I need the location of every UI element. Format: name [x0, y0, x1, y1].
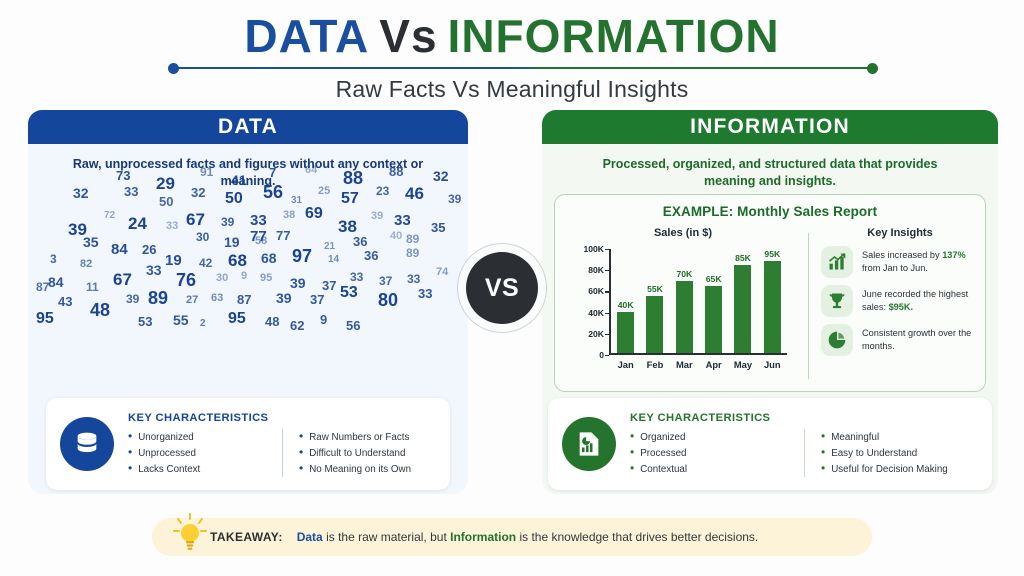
- kc-list-item: •Easy to Understand: [821, 445, 978, 461]
- bullet-icon: •: [299, 461, 303, 476]
- random-number: 50: [159, 194, 173, 209]
- random-number: 68: [228, 251, 247, 271]
- random-number: 95: [228, 310, 246, 328]
- kc-list-item-label: Organized: [640, 430, 685, 445]
- random-number: 62: [290, 318, 304, 333]
- vs-badge: VS: [466, 252, 538, 324]
- kc-body: KEY CHARACTERISTICS •Organized•Processed…: [630, 412, 978, 477]
- divider-dot-right: [867, 63, 878, 74]
- chart-y-tick-label: 60K: [588, 286, 604, 296]
- bullet-icon: •: [821, 461, 825, 476]
- insight-row: June recorded the highest sales: $95K.: [821, 285, 979, 317]
- random-number: 36: [353, 234, 367, 249]
- sales-bar-chart: Sales (in $) 100K80K60K40K20K0 40K55K70K…: [563, 227, 803, 387]
- random-number: 3: [50, 252, 57, 266]
- chart-bar-value-label: 85K: [735, 253, 751, 263]
- random-number: 26: [142, 242, 156, 257]
- growth-chart-icon: [821, 246, 853, 278]
- chart-bars: 40K55K70K65K85K95K: [611, 249, 787, 353]
- random-number: 87: [36, 280, 49, 294]
- bullet-icon: •: [630, 429, 634, 444]
- random-number: 30: [216, 272, 228, 284]
- kc-list-item: •Difficult to Understand: [299, 445, 436, 461]
- kc-list-item-label: Processed: [640, 446, 686, 461]
- database-icon: [60, 417, 114, 471]
- chart-x-tick-label: Mar: [670, 359, 699, 370]
- kc-list-item-label: Unprocessed: [138, 446, 196, 461]
- kc-list-item: •Organized: [630, 429, 804, 445]
- random-number: 82: [80, 258, 92, 270]
- chart-y-tick-label: 20K: [588, 329, 604, 339]
- title-word-vs: Vs: [379, 10, 437, 62]
- key-insights-heading: Key Insights: [821, 227, 979, 239]
- random-number: 56: [346, 318, 360, 333]
- insight-row: Consistent growth over the months.: [821, 324, 979, 356]
- data-panel-header: DATA: [28, 110, 468, 144]
- random-number: 97: [292, 246, 312, 267]
- bullet-icon: •: [128, 445, 132, 460]
- information-key-characteristics: KEY CHARACTERISTICS •Organized•Processed…: [548, 398, 992, 490]
- kc-list-item-label: Easy to Understand: [831, 446, 917, 461]
- kc-body: KEY CHARACTERISTICS •Unorganized•Unproce…: [128, 412, 436, 477]
- bullet-icon: •: [128, 429, 132, 444]
- random-number: 39: [126, 292, 139, 306]
- insight-text: Sales increased by 137% from Jan to Jun.: [862, 249, 979, 274]
- chart-y-tick-label: 100K: [583, 244, 604, 254]
- random-number: 2: [200, 318, 206, 329]
- page-title: DATAVsINFORMATION: [0, 8, 1024, 64]
- random-number: 39: [276, 290, 292, 306]
- chart-bar-column: 65K: [699, 249, 728, 353]
- divider-line: [174, 67, 872, 69]
- random-number: 30: [196, 230, 209, 244]
- information-panel-description: Processed, organized, and structured dat…: [542, 144, 998, 190]
- bullet-icon: •: [821, 429, 825, 444]
- kc-heading: KEY CHARACTERISTICS: [630, 412, 978, 424]
- random-number: 42: [199, 256, 212, 270]
- chart-bar-value-label: 55K: [647, 284, 663, 294]
- takeaway-banner: TAKEAWAY: Data is the raw material, but …: [152, 518, 872, 556]
- random-number: 21: [324, 241, 335, 252]
- random-number: 73: [116, 168, 130, 183]
- random-number: 39: [290, 275, 306, 291]
- chart-y-tick-label: 80K: [588, 265, 604, 275]
- chart-plot-area: 100K80K60K40K20K0 40K55K70K65K85K95K Jan…: [609, 249, 787, 355]
- chart-y-tick-label: 40K: [588, 308, 604, 318]
- random-number: 40: [390, 230, 402, 242]
- random-number: 33: [250, 212, 267, 229]
- kc-column-two: •Raw Numbers or Facts•Difficult to Under…: [282, 429, 436, 477]
- random-number: 53: [138, 314, 152, 329]
- title-divider: [168, 62, 878, 74]
- kc-list-item-label: Contextual: [640, 462, 687, 477]
- random-number: 48: [90, 300, 110, 321]
- random-number: 25: [318, 185, 330, 197]
- chart-bar-column: 40K: [611, 249, 640, 353]
- chart-bar-column: 55K: [640, 249, 669, 353]
- random-number: 37: [322, 278, 336, 293]
- kc-list-item-label: Useful for Decision Making: [831, 462, 948, 477]
- random-number: 14: [328, 254, 339, 265]
- kc-column-two: •Meaningful•Easy to Understand•Useful fo…: [804, 429, 978, 477]
- random-number: 63: [211, 292, 223, 304]
- chart-bar-value-label: 95K: [764, 249, 780, 259]
- kc-list-item: •Processed: [630, 445, 804, 461]
- random-number: 9: [320, 312, 327, 327]
- kc-list-item: •Raw Numbers or Facts: [299, 429, 436, 445]
- bullet-icon: •: [630, 445, 634, 460]
- chart-bar-column: 70K: [670, 249, 699, 353]
- chart-bar-column: 85K: [728, 249, 757, 353]
- chart-y-tick-mark: [605, 291, 609, 292]
- kc-list-item-label: Unorganized: [138, 430, 194, 445]
- random-number: 67: [113, 270, 132, 290]
- random-number: 57: [341, 190, 359, 208]
- chart-bar: [676, 281, 693, 354]
- chart-bar: [764, 261, 781, 353]
- data-key-characteristics: KEY CHARACTERISTICS •Unorganized•Unproce…: [46, 398, 450, 490]
- random-number: 39: [221, 215, 234, 229]
- random-number: 33: [124, 184, 138, 199]
- random-number: 29: [156, 174, 175, 194]
- random-number: 91: [200, 165, 213, 179]
- bullet-icon: •: [821, 445, 825, 460]
- random-number: 89: [406, 246, 419, 260]
- chart-y-tick-mark: [605, 313, 609, 314]
- random-number: 84: [111, 241, 128, 258]
- takeaway-text: Data is the raw material, but Informatio…: [297, 530, 759, 544]
- kc-list-item-label: No Meaning on its Own: [309, 462, 411, 477]
- title-word-information: INFORMATION: [448, 10, 780, 62]
- chart-x-tick-label: Feb: [640, 359, 669, 370]
- chart-x-tick-label: Apr: [699, 359, 728, 370]
- random-number: 7: [269, 165, 276, 180]
- page-subtitle: Raw Facts Vs Meaningful Insights: [0, 76, 1024, 103]
- kc-column-one: •Unorganized•Unprocessed•Lacks Context: [128, 429, 282, 477]
- chart-x-tick-label: Jun: [758, 359, 787, 370]
- random-number: 37: [379, 274, 392, 288]
- random-number: 88: [343, 168, 363, 189]
- chart-x-tick-label: Jan: [611, 359, 640, 370]
- random-number: 39: [371, 210, 383, 222]
- insight-row: Sales increased by 137% from Jan to Jun.: [821, 246, 979, 278]
- random-number: 80: [378, 290, 398, 311]
- random-number: 88: [389, 164, 403, 179]
- random-number: 33: [394, 212, 411, 229]
- key-insights-section: Key Insights Sales increased by 137% fro…: [821, 227, 979, 363]
- random-number: 23: [376, 184, 389, 198]
- random-number: 69: [305, 205, 323, 223]
- chart-bar-value-label: 70K: [676, 269, 692, 279]
- kc-list-item-label: Lacks Context: [138, 462, 200, 477]
- random-number: 76: [176, 270, 196, 291]
- random-number: 87: [237, 292, 251, 307]
- random-number: 64: [305, 164, 317, 176]
- random-number: 36: [364, 248, 378, 263]
- kc-list-item-label: Meaningful: [831, 430, 879, 445]
- chart-y-tick-label: 0: [599, 350, 604, 360]
- random-number: 50: [225, 190, 243, 208]
- takeaway-label: TAKEAWAY:: [210, 530, 283, 544]
- chart-y-tick-mark: [605, 270, 609, 271]
- pie-chart-icon: [821, 324, 853, 356]
- random-number: 33: [418, 286, 432, 301]
- insight-text: June recorded the highest sales: $95K.: [862, 288, 979, 313]
- chart-bar-value-label: 40K: [618, 300, 634, 310]
- card-divider: [808, 233, 809, 379]
- random-number: 68: [261, 250, 277, 266]
- random-number: 32: [73, 185, 89, 201]
- random-number: 35: [431, 220, 445, 235]
- chart-bar: [617, 312, 634, 354]
- random-number: 43: [58, 294, 72, 309]
- kc-list-item-label: Raw Numbers or Facts: [309, 430, 409, 445]
- random-number: 19: [165, 252, 182, 269]
- random-number: 77: [250, 228, 267, 245]
- random-number: 89: [406, 232, 419, 246]
- random-number: 53: [340, 284, 358, 302]
- random-number: 89: [148, 288, 168, 309]
- bullet-icon: •: [128, 461, 132, 476]
- infographic-root: DATAVsINFORMATION Raw Facts Vs Meaningfu…: [0, 0, 1024, 576]
- random-number: 41: [231, 172, 247, 188]
- bullet-icon: •: [299, 429, 303, 444]
- kc-list-item: •Unorganized: [128, 429, 282, 445]
- example-card: EXAMPLE: Monthly Sales Report Sales (in …: [554, 194, 986, 392]
- kc-list-item: •Contextual: [630, 461, 804, 477]
- chart-x-labels: JanFebMarAprMayJun: [611, 359, 787, 370]
- chart-y-tick-mark: [605, 334, 609, 335]
- insight-text: Consistent growth over the months.: [862, 327, 979, 352]
- example-card-title: EXAMPLE: Monthly Sales Report: [555, 195, 985, 219]
- kc-list-item-label: Difficult to Understand: [309, 446, 405, 461]
- random-number: 33: [146, 262, 162, 278]
- random-number: 39: [448, 192, 461, 206]
- random-number: 33: [407, 272, 420, 286]
- information-panel-header: INFORMATION: [542, 110, 998, 144]
- chart-bar-column: 95K: [758, 249, 787, 353]
- kc-heading: KEY CHARACTERISTICS: [128, 412, 436, 424]
- random-number: 72: [104, 210, 115, 221]
- random-number: 11: [86, 280, 99, 294]
- random-number: 84: [48, 274, 64, 290]
- random-number: 56: [263, 182, 283, 203]
- random-number: 33: [166, 220, 178, 232]
- chart-bar-value-label: 65K: [706, 274, 722, 284]
- random-number: 95: [36, 310, 54, 328]
- random-number: 9: [241, 270, 247, 282]
- random-number: 77: [276, 228, 290, 243]
- random-number: 95: [260, 272, 272, 284]
- random-number: 32: [191, 185, 205, 200]
- random-number: 48: [265, 314, 279, 329]
- random-number: 35: [83, 234, 99, 250]
- bullet-icon: •: [299, 445, 303, 460]
- chart-bar: [734, 265, 751, 353]
- random-number: 24: [128, 214, 147, 234]
- report-document-icon: [562, 417, 616, 471]
- chart-y-tick-mark: [605, 355, 609, 356]
- random-number: 38: [283, 209, 295, 221]
- chart-x-tick-label: May: [728, 359, 757, 370]
- lightbulb-icon: [170, 513, 210, 557]
- bullet-icon: •: [630, 461, 634, 476]
- random-number: 33: [350, 270, 363, 284]
- chart-title: Sales (in $): [563, 227, 803, 239]
- chart-bar: [705, 286, 722, 354]
- chart-bar: [646, 296, 663, 353]
- kc-list-item: •Meaningful: [821, 429, 978, 445]
- kc-list-item: •Lacks Context: [128, 461, 282, 477]
- trophy-icon: [821, 285, 853, 317]
- chart-x-axis: [609, 353, 787, 355]
- random-number: 67: [186, 210, 205, 230]
- random-number: 32: [433, 168, 449, 184]
- chart-y-tick-mark: [605, 249, 609, 250]
- kc-list-item: •No Meaning on its Own: [299, 461, 436, 477]
- random-number: 31: [291, 195, 302, 206]
- kc-list-item: •Useful for Decision Making: [821, 461, 978, 477]
- random-number: 74: [436, 266, 448, 278]
- random-number: 27: [186, 294, 198, 306]
- kc-list-item: •Unprocessed: [128, 445, 282, 461]
- kc-column-one: •Organized•Processed•Contextual: [630, 429, 804, 477]
- random-number: 37: [310, 292, 324, 307]
- title-word-data: DATA: [244, 10, 369, 62]
- random-number: 19: [224, 234, 240, 250]
- random-number: 46: [405, 184, 424, 204]
- random-number: 55: [173, 312, 189, 328]
